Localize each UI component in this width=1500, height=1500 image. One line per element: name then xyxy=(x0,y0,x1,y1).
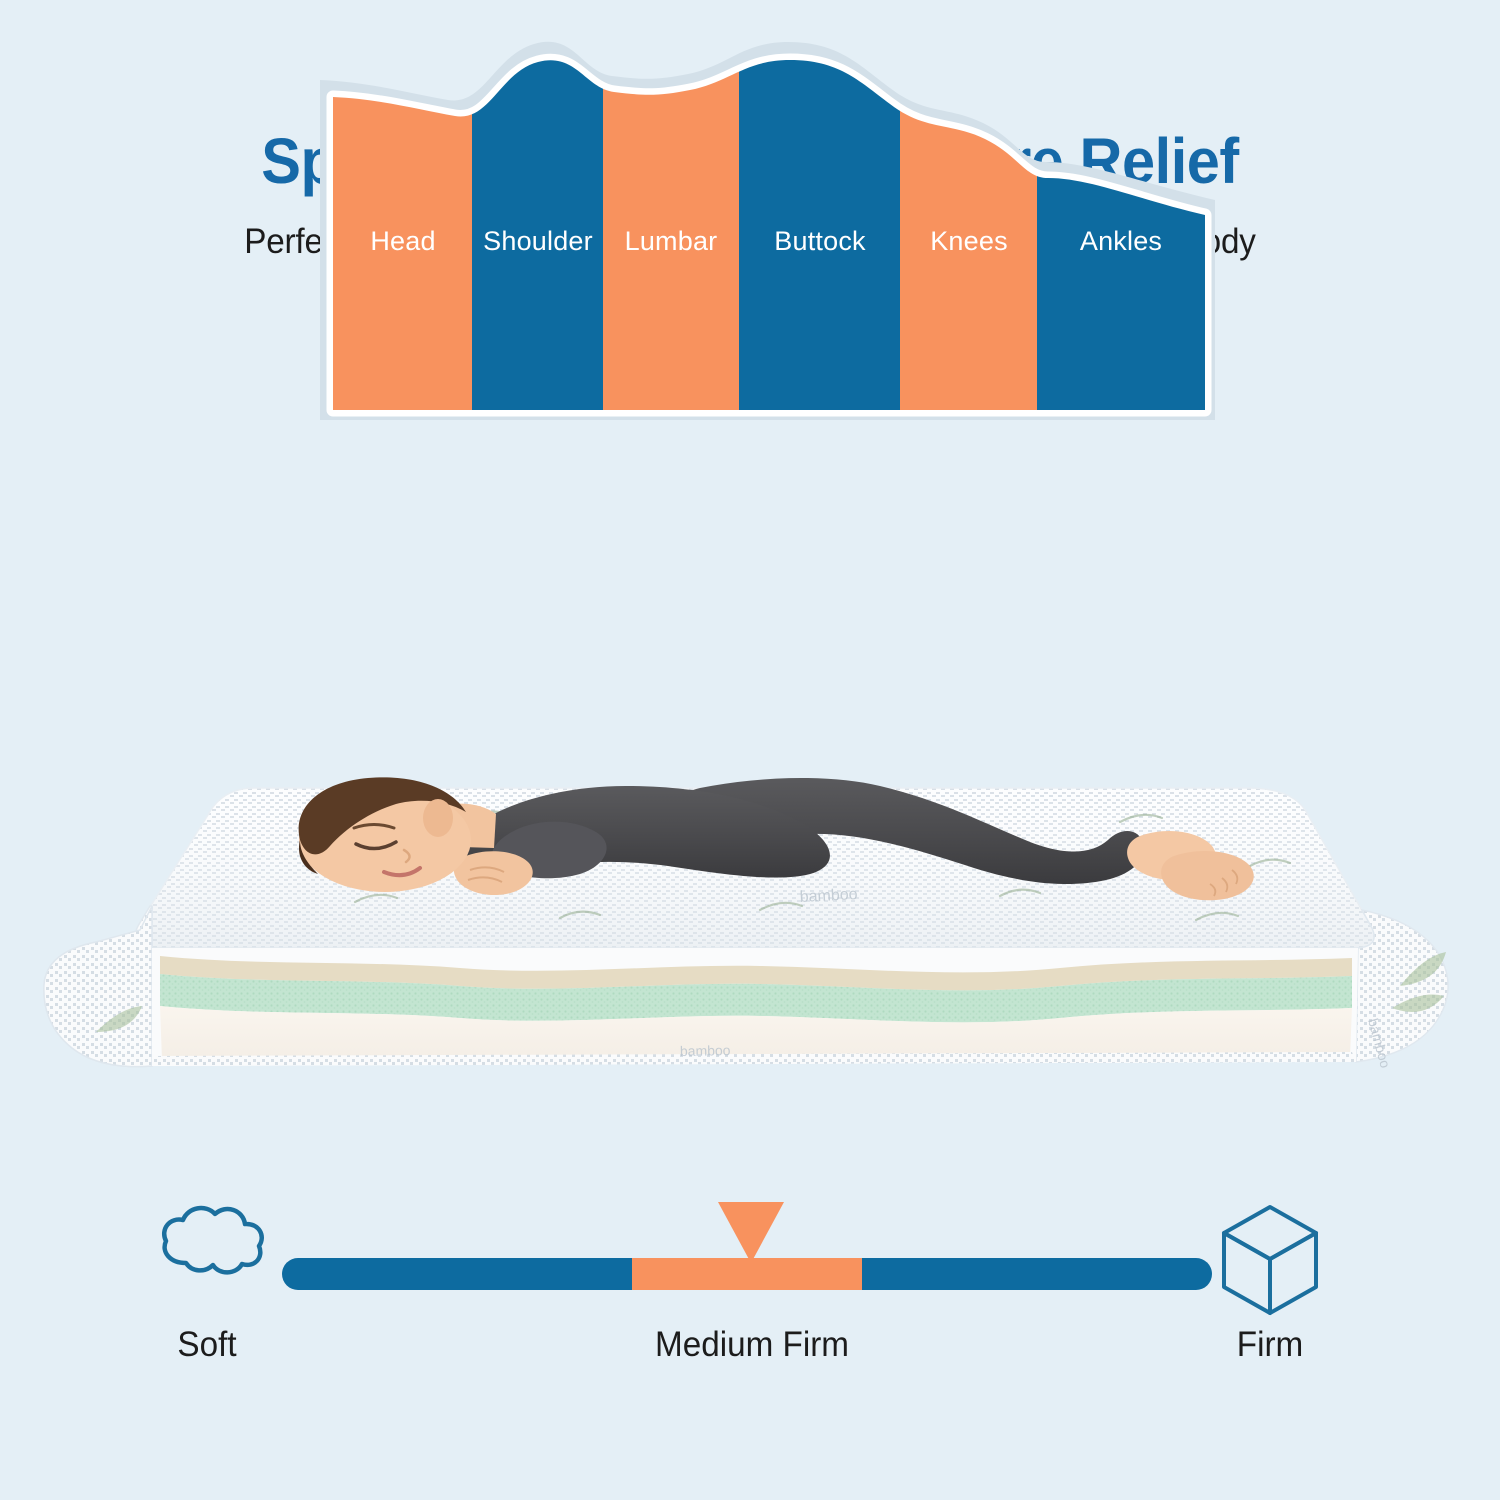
mattress-front-face xyxy=(152,948,1358,1066)
firmness-label-soft: Soft xyxy=(177,1325,236,1365)
zone-label-buttock: Buttock xyxy=(774,226,865,257)
firmness-label-group: Soft Medium Firm Firm xyxy=(0,1185,1500,1385)
pressure-zone-chart: Head Shoulder Lumbar Buttock Knees Ankle… xyxy=(0,0,1500,420)
mattress-illustration: bamboo bamboo bamboo bamboo xyxy=(0,770,1500,1170)
cover-word-1: bamboo xyxy=(799,886,858,906)
product-feature-panel: Spinal Alignment & Pressure Relief Perfe… xyxy=(0,0,1500,1500)
zone-label-shoulder: Shoulder xyxy=(483,226,593,257)
zone-label-head: Head xyxy=(370,226,435,257)
zone-label-ankles: Ankles xyxy=(1080,226,1162,257)
firmness-label-firm: Firm xyxy=(1237,1325,1303,1365)
firmness-scale: Soft Medium Firm Firm xyxy=(0,1185,1500,1385)
cover-word-3: bamboo xyxy=(680,1042,731,1059)
mattress-left-end xyxy=(44,906,152,1067)
sleeper-ear xyxy=(423,799,453,837)
zone-label-group: Head Shoulder Lumbar Buttock Knees Ankle… xyxy=(0,0,1500,420)
firmness-label-medium: Medium Firm xyxy=(655,1325,849,1365)
zone-label-lumbar: Lumbar xyxy=(625,226,718,257)
zone-label-knees: Knees xyxy=(930,226,1008,257)
